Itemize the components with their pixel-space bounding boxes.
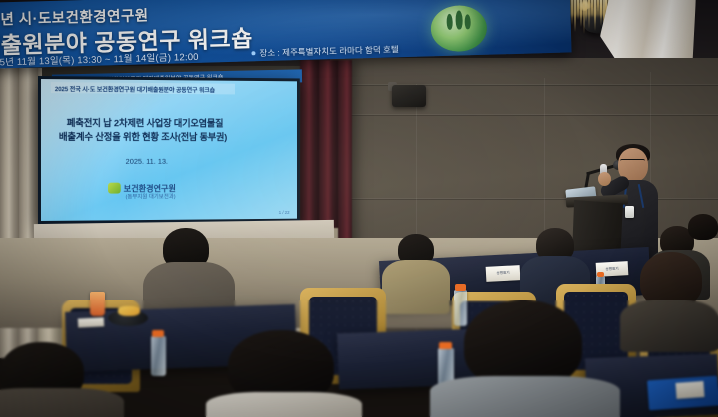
slide-date: 2025. 11. 13. xyxy=(126,157,168,166)
chandelier-crystal xyxy=(591,0,593,17)
institute-logo-icon xyxy=(108,183,121,194)
handout-paper-1 xyxy=(78,317,104,327)
glasses-icon xyxy=(620,159,645,165)
chandelier-crystal xyxy=(577,0,579,20)
wall-panel-line-h6 xyxy=(330,199,718,200)
namecard-text-far: 성명표기 xyxy=(486,271,520,278)
table-namecard-far: 성명표기 xyxy=(486,265,521,282)
water-bottle-mid-1 xyxy=(151,336,166,376)
name-badge xyxy=(625,206,634,218)
wall-panel-line-h4 xyxy=(330,115,718,116)
slide-page-number: 1 / 22 xyxy=(279,210,290,215)
snack-food xyxy=(118,306,140,316)
attendee-body-far-mid xyxy=(382,260,450,314)
bottle-cap-mid-2 xyxy=(455,284,466,291)
attendee-body-foreground-right xyxy=(430,376,620,417)
chandelier-crystal xyxy=(585,0,587,22)
bottle-cap-mid-1 xyxy=(152,330,164,337)
attendee-body-foreground-left xyxy=(0,388,124,417)
slide-title-line-1: 폐축전지 납 2차제련 사업장 대기오염물질 xyxy=(67,115,224,129)
chandelier-crystal xyxy=(571,0,573,25)
juice-glass xyxy=(90,292,105,316)
bottle-cap-far-1 xyxy=(597,272,604,277)
slide-header-text: 2025 전국 시·도 보건환경연구원 대기배출원분야 공동연구 워크숍 xyxy=(55,84,215,94)
chandelier-crystal xyxy=(594,0,596,31)
chandelier-crystal xyxy=(574,0,576,32)
chandelier-crystal xyxy=(600,0,602,26)
attendee-head-foreground-right xyxy=(464,300,582,388)
slide-logo-subtitle: (동부지원 대기보전과) xyxy=(126,192,176,200)
attendee-head-far-right-3 xyxy=(688,214,718,240)
bottle-cap-mid-3 xyxy=(439,342,452,349)
chandelier-crystal xyxy=(597,0,599,12)
globe-icon xyxy=(430,5,487,53)
conference-room-photo: 년 시·도보건환경연구원 배출원분야 공동연구 워크숍 5년 11월 13일(목… xyxy=(0,0,718,417)
slide-title-line-2: 배출계수 산정을 위한 현황 조사(전남 동부권) xyxy=(59,129,227,143)
water-bottle-mid-2 xyxy=(454,290,467,326)
presenter-hand xyxy=(598,172,611,186)
chandelier-crystal xyxy=(588,0,590,10)
wall-speaker xyxy=(392,85,426,107)
banner-venue-line: 장소 : 제주특별자치도 라마다 함덕 호텔 xyxy=(259,43,399,59)
presentation-slide: 2025 전국 시·도 보건환경연구원 대기배출원분야 공동연구 워크숍 폐축전… xyxy=(41,79,297,221)
projection-screen: 2025 전국 시·도 보건환경연구원 대기배출원분야 공동연구 워크숍 폐축전… xyxy=(38,76,300,224)
folder-paper xyxy=(675,381,704,399)
chandelier-crystal xyxy=(580,0,582,27)
chandelier-crystal xyxy=(583,0,585,15)
attendee-body-right-profile xyxy=(620,300,718,352)
attendee-body-foreground-mid xyxy=(206,392,362,417)
